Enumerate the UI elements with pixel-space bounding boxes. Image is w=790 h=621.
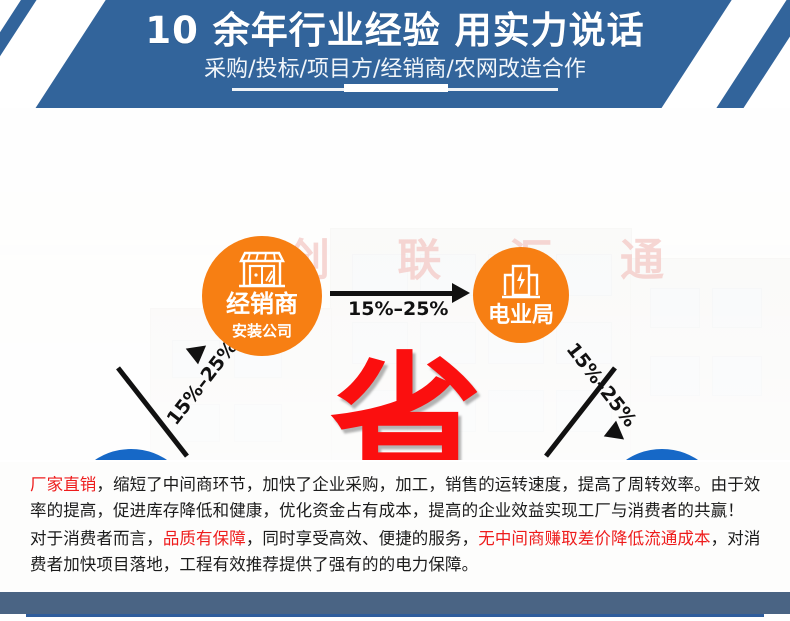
arrow-dealer-to-bureau-head — [452, 283, 470, 303]
header-title: 10 余年行业经验 用实力说话 — [0, 8, 790, 54]
header-banner: 10 余年行业经验 用实力说话 采购/投标/项目方/经销商/农网改造合作 — [0, 0, 790, 108]
footer-accent-rule — [26, 614, 764, 617]
power-building-icon — [498, 263, 544, 301]
node-power-bureau-label: 电业局 — [488, 304, 554, 327]
arrow-dealer-to-bureau-label: 15%–25% — [348, 298, 448, 320]
paragraph-two-highlight-quality: 品质有保障 — [163, 529, 246, 548]
storefront-icon — [237, 251, 287, 289]
paragraph-two-highlight-nomiddleman: 无中间商赚取差价降低流通成本 — [478, 529, 710, 548]
paragraph-one-highlight: 厂家直销 — [30, 475, 96, 494]
paragraph-two: 对于消费者而言，品质有保障，同时享受高效、便捷的服务，无中间商赚取差价降低流通成… — [30, 526, 770, 578]
node-dealer-sublabel: 安装公司 — [232, 320, 292, 341]
node-dealer[interactable]: 经销商 安装公司 — [202, 236, 322, 356]
paragraph-two-part-a: 对于消费者而言， — [30, 529, 163, 548]
node-power-bureau[interactable]: 电业局 — [473, 247, 569, 343]
center-savings-character: 省 — [330, 352, 470, 460]
node-dealer-label: 经销商 — [226, 292, 298, 317]
promo-banner-page: 10 余年行业经验 用实力说话 采购/投标/项目方/经销商/农网改造合作 — [0, 0, 790, 621]
paragraph-one: 厂家直销，缩短了中间商环节，加快了企业采购，加工，销售的运转速度，提高了周转效率… — [30, 472, 770, 524]
header-subtitle: 采购/投标/项目方/经销商/农网改造合作 — [0, 56, 790, 84]
footer-bar — [0, 592, 790, 614]
paragraph-two-part-b: ，同时享受高效、便捷的服务， — [246, 529, 478, 548]
diagram-stage: 创 联 汇 通 省 15%–25% 15%–25% 15%–25% 在这里省了中… — [0, 108, 790, 460]
header-divider-center — [344, 84, 448, 92]
description-section: 厂家直销，缩短了中间商环节，加快了企业采购，加工，销售的运转速度，提高了周转效率… — [0, 462, 790, 590]
arrow-dealer-to-bureau-line — [330, 291, 455, 296]
paragraph-one-body: ，缩短了中间商环节，加快了企业采购，加工，销售的运转速度，提高了周转效率。由于效… — [30, 475, 760, 520]
